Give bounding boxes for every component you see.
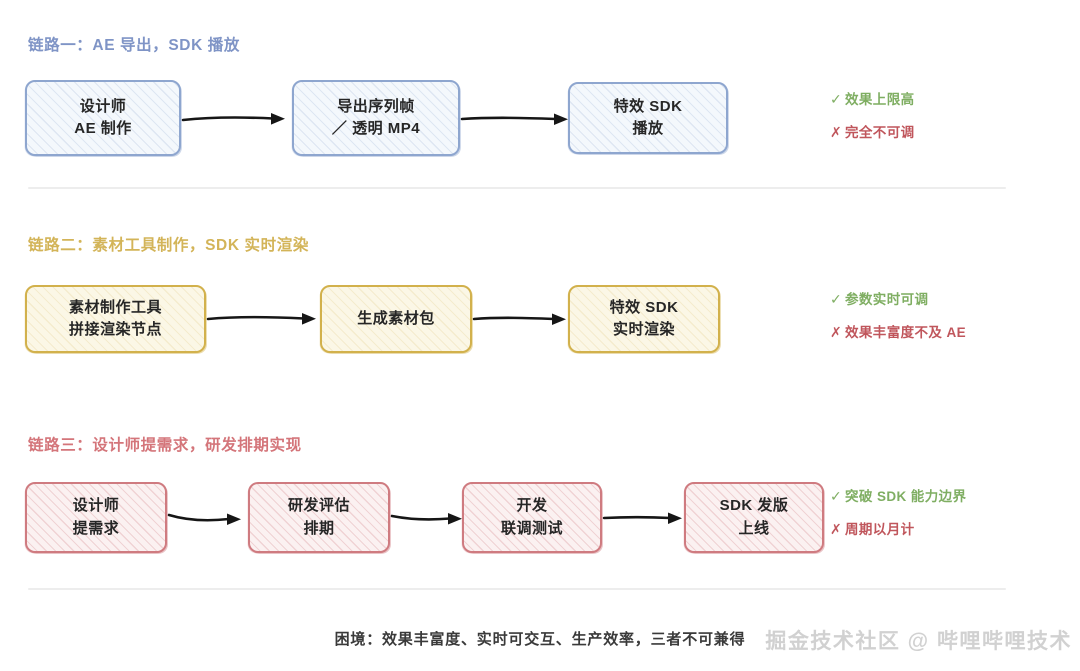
chain-3-arrow-3	[602, 510, 694, 526]
chain-3-node-4-label: SDK 发版 上线	[720, 495, 789, 540]
chain-3-arrow-1	[167, 510, 255, 526]
chain-3-node-2-label: 研发评估 排期	[288, 495, 350, 540]
chain-2-node-3[interactable]: 特效 SDK 实时渲染	[568, 285, 720, 353]
chain-2-con: ✗ 效果丰富度不及 AE	[830, 321, 966, 341]
chain-1-arrow-1	[181, 111, 293, 127]
chain-2-pro-text: 参数实时可调	[845, 288, 928, 308]
chain-section-3: 链路三：设计师提需求，研发排期实现 设计师 提需求 研发评估 排期	[0, 400, 1080, 600]
watermark: 掘金技术社区 @ 哔哩哔哩技术	[765, 625, 1072, 655]
chain-1-node-2-label: 导出序列帧 ／ 透明 MP4	[332, 96, 420, 141]
chain-3-pro: ✓ 突破 SDK 能力边界	[830, 485, 966, 505]
chain-1-node-1[interactable]: 设计师 AE 制作	[25, 80, 181, 156]
chain-3-annotations: ✓ 突破 SDK 能力边界 ✗ 周期以月计	[830, 485, 966, 538]
check-icon: ✓	[830, 488, 845, 505]
chain-1-con: ✗ 完全不可调	[830, 121, 915, 141]
chain-3-node-1-label: 设计师 提需求	[73, 495, 120, 540]
chain-2-node-3-label: 特效 SDK 实时渲染	[610, 297, 679, 342]
chain-2-con-text: 效果丰富度不及 AE	[845, 321, 966, 341]
chain-1-pro-text: 效果上限高	[845, 88, 915, 108]
cross-icon: ✗	[830, 324, 845, 341]
chain-1-node-3[interactable]: 特效 SDK 播放	[568, 82, 728, 154]
chain-1-node-2[interactable]: 导出序列帧 ／ 透明 MP4	[292, 80, 460, 156]
chain-2-node-1-label: 素材制作工具 拼接渲染节点	[69, 297, 162, 342]
chain-1-annotations: ✓ 效果上限高 ✗ 完全不可调	[830, 88, 915, 141]
chain-2-pro: ✓ 参数实时可调	[830, 288, 966, 308]
chain-2-node-2[interactable]: 生成素材包	[320, 285, 472, 353]
chain-1-node-3-label: 特效 SDK 播放	[614, 96, 683, 141]
chain-3-con: ✗ 周期以月计	[830, 518, 966, 538]
chain-3-node-3[interactable]: 开发 联调测试	[462, 482, 602, 553]
chain-3-node-4[interactable]: SDK 发版 上线	[684, 482, 824, 553]
chain-2-node-2-label: 生成素材包	[357, 308, 435, 331]
chain-2-node-1[interactable]: 素材制作工具 拼接渲染节点	[25, 285, 206, 353]
chain-section-2: 链路二：素材工具制作，SDK 实时渲染 素材制作工具 拼接渲染节点 生成素材包	[0, 200, 1080, 390]
chain-2-annotations: ✓ 参数实时可调 ✗ 效果丰富度不及 AE	[830, 288, 966, 341]
chain-1-con-text: 完全不可调	[845, 121, 915, 141]
check-icon: ✓	[830, 291, 845, 308]
chain-1-title: 链路一：AE 导出，SDK 播放	[28, 33, 240, 55]
cross-icon: ✗	[830, 124, 845, 141]
chain-3-node-2[interactable]: 研发评估 排期	[248, 482, 390, 553]
chain-3-con-text: 周期以月计	[845, 518, 915, 538]
diagram-canvas: 链路一：AE 导出，SDK 播放 设计师 AE 制作 导出序列帧 ／ 透明 MP…	[0, 0, 1080, 671]
chain-section-1: 链路一：AE 导出，SDK 播放 设计师 AE 制作 导出序列帧 ／ 透明 MP…	[0, 0, 1080, 190]
chain-1-flow: 设计师 AE 制作 导出序列帧 ／ 透明 MP4 特效 SDK 播放	[0, 75, 1080, 161]
section-divider-1	[28, 187, 1006, 189]
chain-2-arrow-1	[206, 311, 326, 327]
chain-2-title: 链路二：素材工具制作，SDK 实时渲染	[28, 233, 309, 255]
chain-2-arrow-2	[472, 311, 574, 327]
chain-1-node-1-label: 设计师 AE 制作	[74, 96, 132, 141]
chain-1-pro: ✓ 效果上限高	[830, 88, 915, 108]
chain-3-node-3-label: 开发 联调测试	[501, 495, 563, 540]
check-icon: ✓	[830, 91, 845, 108]
chain-1-arrow-2	[460, 111, 575, 127]
chain-3-pro-text: 突破 SDK 能力边界	[845, 485, 966, 505]
chain-3-node-1[interactable]: 设计师 提需求	[25, 482, 167, 553]
cross-icon: ✗	[830, 521, 845, 538]
chain-3-title: 链路三：设计师提需求，研发排期实现	[28, 433, 302, 455]
